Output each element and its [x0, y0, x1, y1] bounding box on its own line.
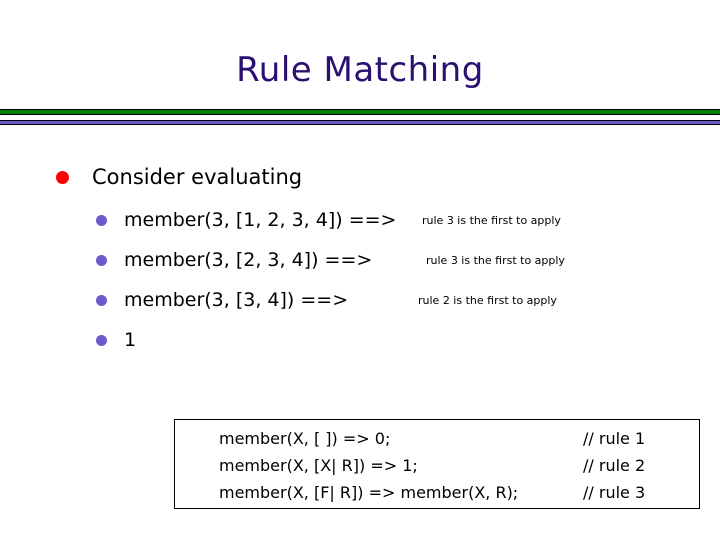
code-comment: // rule 1 — [583, 429, 645, 448]
code-comment: // rule 2 — [583, 456, 645, 475]
list-item: 1 — [96, 328, 696, 368]
sub-bullet-list: member(3, [1, 2, 3, 4]) ==> rule 3 is th… — [96, 208, 696, 368]
code-line: member(X, [F| R]) => member(X, R); // ru… — [175, 483, 699, 509]
bullet-dot-icon — [96, 255, 107, 266]
sub-bullet-label: member(3, [2, 3, 4]) ==> — [124, 248, 372, 272]
sub-bullet-label: 1 — [124, 328, 136, 352]
sub-bullet-label: member(3, [1, 2, 3, 4]) ==> — [124, 208, 396, 232]
bullet-dot-icon — [56, 171, 69, 184]
divider-blue-bar — [0, 120, 720, 125]
bullet-dot-icon — [96, 215, 107, 226]
code-line: member(X, [X| R]) => 1; // rule 2 — [175, 456, 699, 482]
bullet-level1-label: Consider evaluating — [92, 164, 302, 190]
page-title: Rule Matching — [0, 50, 720, 90]
sub-bullet-annotation: rule 3 is the first to apply — [426, 253, 565, 269]
slide-canvas: Rule Matching Consider evaluating member… — [0, 0, 720, 540]
code-line: member(X, [ ]) => 0; // rule 1 — [175, 429, 699, 455]
code-comment: // rule 3 — [583, 483, 645, 502]
bullet-dot-icon — [96, 335, 107, 346]
code-source: member(X, [F| R]) => member(X, R); — [219, 483, 518, 502]
list-item: member(3, [1, 2, 3, 4]) ==> rule 3 is th… — [96, 208, 696, 248]
code-box: member(X, [ ]) => 0; // rule 1 member(X,… — [174, 419, 700, 509]
sub-bullet-annotation: rule 2 is the first to apply — [418, 293, 557, 309]
sub-bullet-label: member(3, [3, 4]) ==> — [124, 288, 348, 312]
code-source: member(X, [ ]) => 0; — [219, 429, 390, 448]
sub-bullet-annotation: rule 3 is the first to apply — [422, 213, 561, 229]
code-source: member(X, [X| R]) => 1; — [219, 456, 418, 475]
divider-green-bar — [0, 109, 720, 115]
list-item: member(3, [2, 3, 4]) ==> rule 3 is the f… — [96, 248, 696, 288]
list-item: member(3, [3, 4]) ==> rule 2 is the firs… — [96, 288, 696, 328]
bullet-dot-icon — [96, 295, 107, 306]
bullet-consider-evaluating: Consider evaluating — [56, 164, 302, 190]
